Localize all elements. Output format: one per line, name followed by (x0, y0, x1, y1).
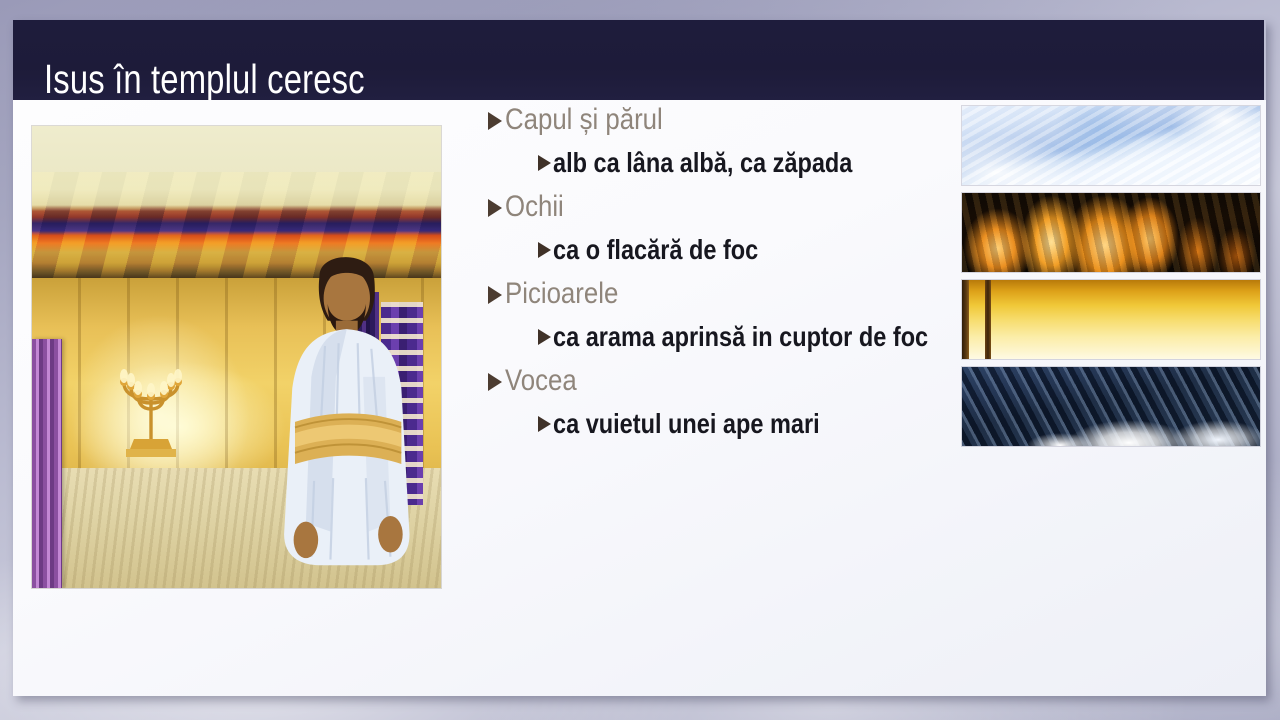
presentation-slide: Isus în templul ceresc (13, 20, 1266, 696)
bullet-text: Vocea (505, 366, 577, 396)
list-item[interactable]: ca o flacără de foc (538, 234, 948, 277)
bullet-text: ca vuietul unei ape mari (553, 410, 820, 438)
slide-title-bar: Isus în templul ceresc (13, 20, 1264, 100)
list-item[interactable]: ca arama aprinsă in cuptor de foc (538, 321, 948, 364)
triangle-right-icon (538, 242, 551, 258)
left-purple-curtain (32, 339, 62, 588)
triangle-right-icon (538, 329, 551, 345)
triangle-right-icon (538, 416, 551, 432)
snow-thumbnail[interactable] (962, 106, 1260, 185)
triangle-right-icon (488, 112, 502, 130)
list-item[interactable]: alb ca lâna albă, ca zăpada (538, 147, 948, 190)
bullet-text: Ochii (505, 192, 564, 222)
bullet-text: alb ca lâna albă, ca zăpada (553, 149, 852, 177)
bullet-text: ca o flacără de foc (553, 236, 758, 264)
menorah-icon (112, 363, 190, 459)
jesus-figure (265, 242, 429, 579)
list-item[interactable]: Capul și părul (488, 103, 948, 147)
water-thumbnail[interactable] (962, 367, 1260, 446)
triangle-right-icon (488, 199, 502, 217)
slide-body: Capul și părul alb ca lâna albă, ca zăpa… (13, 100, 1266, 696)
list-item[interactable]: Ochii (488, 190, 948, 234)
bullet-text: Capul și părul (505, 105, 663, 135)
triangle-right-icon (488, 286, 502, 304)
page-title: Isus în templul ceresc (44, 57, 365, 101)
brass-thumbnail[interactable] (962, 280, 1260, 359)
bullet-text: ca arama aprinsă in cuptor de foc (553, 323, 928, 351)
triangle-right-icon (488, 373, 502, 391)
bullet-text: Picioarele (505, 279, 618, 309)
list-item[interactable]: ca vuietul unei ape mari (538, 408, 948, 451)
thumbnail-strip (962, 106, 1264, 454)
list-item[interactable]: Vocea (488, 364, 948, 408)
bullet-list: Capul și părul alb ca lâna albă, ca zăpa… (468, 103, 948, 451)
fire-thumbnail[interactable] (962, 193, 1260, 272)
triangle-right-icon (538, 155, 551, 171)
jesus-in-heavenly-temple-illustration[interactable] (32, 126, 441, 588)
list-item[interactable]: Picioarele (488, 277, 948, 321)
